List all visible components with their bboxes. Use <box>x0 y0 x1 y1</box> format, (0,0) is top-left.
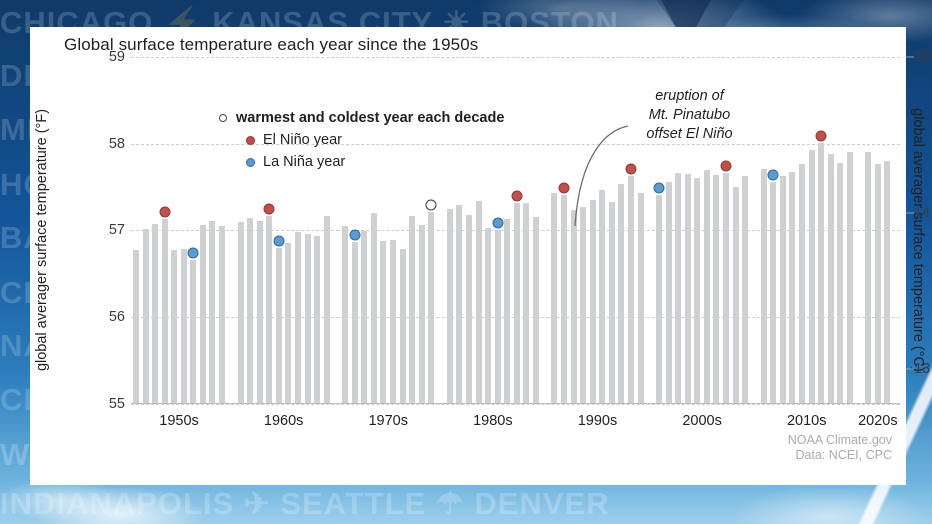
bar <box>818 143 824 404</box>
annotation-leader-line <box>550 122 640 237</box>
la-nina-marker <box>188 247 199 258</box>
bar <box>523 203 529 404</box>
el-nino-marker <box>264 204 275 215</box>
legend-label: La Niña year <box>263 154 345 170</box>
decade-extreme-marker <box>426 200 437 211</box>
bar <box>571 210 577 404</box>
credit-block: NOAA Climate.gov Data: NCEI, CPC <box>788 433 892 463</box>
legend-item-la-nina: La Niña year <box>243 151 504 173</box>
la-nina-marker <box>492 218 503 229</box>
bar <box>666 182 672 404</box>
bar <box>352 242 358 404</box>
x-axis-labels: 1950s1960s1970s1980s1990s2000s2010s2020s <box>131 413 901 435</box>
credit-data: Data: NCEI, CPC <box>788 448 892 463</box>
gridline <box>131 404 900 405</box>
el-nino-marker <box>816 130 827 141</box>
bar <box>514 203 520 404</box>
bar <box>485 228 491 404</box>
el-nino-marker <box>159 207 170 218</box>
bar <box>713 175 719 404</box>
annotation-line: eruption of <box>622 87 757 106</box>
bar <box>285 243 291 404</box>
la-nina-marker <box>349 229 360 240</box>
bar <box>789 172 795 404</box>
bar <box>770 182 776 404</box>
bar <box>865 152 871 404</box>
y-tick-label-celsius: –15 <box>906 49 930 65</box>
legend-label: El Niño year <box>263 132 342 148</box>
bar <box>495 230 501 404</box>
bar <box>466 215 472 404</box>
bar <box>780 176 786 404</box>
bar <box>314 236 320 404</box>
bar <box>371 213 377 404</box>
y-tick-label: 57 <box>85 222 125 238</box>
bar <box>342 226 348 404</box>
el-nino-marker <box>721 161 732 172</box>
y-tick-label: 58 <box>85 136 125 152</box>
x-axis-label: 1980s <box>473 413 513 429</box>
annotation-line: offset El Niño <box>622 125 757 144</box>
legend-item-el-nino: El Niño year <box>243 129 504 151</box>
credit-source: NOAA Climate.gov <box>788 433 892 448</box>
bar <box>209 221 215 404</box>
bar <box>428 212 434 404</box>
bar <box>847 152 853 404</box>
bar <box>361 231 367 404</box>
bar <box>390 240 396 404</box>
x-axis-line <box>131 403 900 404</box>
la-nina-marker <box>273 235 284 246</box>
bar <box>276 248 282 404</box>
bar <box>305 234 311 404</box>
bar <box>799 164 805 404</box>
x-axis-label: 2010s <box>787 413 827 429</box>
bar <box>247 218 253 404</box>
bar <box>409 216 415 404</box>
chart-card: Global surface temperature each year sin… <box>30 27 906 485</box>
bar <box>504 219 510 404</box>
annotation-line: Mt. Pinatubo <box>622 106 757 125</box>
bar <box>152 224 158 404</box>
bar <box>685 174 691 404</box>
bar <box>133 250 139 404</box>
x-axis-label: 1990s <box>578 413 618 429</box>
y-tick-label-celsius: –13 <box>906 361 930 377</box>
bar <box>447 209 453 404</box>
la-nina-marker <box>768 169 779 180</box>
bar <box>257 221 263 404</box>
x-axis-label: 1970s <box>368 413 408 429</box>
bar <box>419 225 425 404</box>
red-dot-marker-icon <box>243 136 257 145</box>
bar <box>181 249 187 404</box>
bar <box>219 226 225 404</box>
bar <box>694 178 700 404</box>
legend-label: warmest and coldest year each decade <box>236 110 504 126</box>
bar <box>190 260 196 404</box>
bar <box>723 173 729 404</box>
x-axis-label: 2000s <box>682 413 722 429</box>
bar <box>742 176 748 404</box>
bar <box>875 164 881 404</box>
open-circle-marker-icon <box>216 114 230 122</box>
plot-area: 5556575859 –13–14–15 <box>105 48 900 404</box>
bar <box>456 205 462 404</box>
x-axis-label: 1960s <box>264 413 304 429</box>
screenshot-root: CHICAGO ⚡ KANSAS CITY ☀ BOSTON DETROIT ☁… <box>0 0 932 524</box>
bar <box>266 216 272 404</box>
bar <box>295 232 301 404</box>
bar <box>809 150 815 404</box>
blue-dot-marker-icon <box>243 158 257 167</box>
bar <box>761 169 767 404</box>
bar <box>656 195 662 404</box>
y-axis-title-right: global averager surface temperature (°C) <box>910 75 926 405</box>
bar <box>837 163 843 404</box>
bar <box>380 241 386 404</box>
x-axis-label: 1950s <box>159 413 199 429</box>
bar <box>238 222 244 404</box>
bar <box>324 216 330 404</box>
bar <box>704 170 710 404</box>
y-tick-label: 56 <box>85 309 125 325</box>
bar <box>675 173 681 404</box>
y-tick-label-celsius: –14 <box>906 205 930 221</box>
pinatubo-annotation: eruption of Mt. Pinatubo offset El Niño <box>622 87 757 144</box>
bar <box>476 201 482 404</box>
legend-item-decade-extreme: warmest and coldest year each decade <box>216 107 504 129</box>
bar <box>162 219 168 404</box>
x-axis-label: 2020s <box>858 413 898 429</box>
bar <box>171 250 177 404</box>
bar <box>200 225 206 404</box>
y-tick-label: 55 <box>85 396 125 412</box>
la-nina-marker <box>654 182 665 193</box>
bar <box>400 249 406 404</box>
bar <box>143 229 149 404</box>
bar <box>884 161 890 404</box>
bar-series <box>131 48 900 404</box>
bar <box>828 154 834 404</box>
bar <box>733 187 739 404</box>
legend: warmest and coldest year each decade El … <box>216 107 504 173</box>
el-nino-marker <box>511 191 522 202</box>
bar <box>533 217 539 404</box>
y-tick-label: 59 <box>85 49 125 65</box>
y-axis-title-left: global averager surface temperature (°F) <box>34 75 50 405</box>
